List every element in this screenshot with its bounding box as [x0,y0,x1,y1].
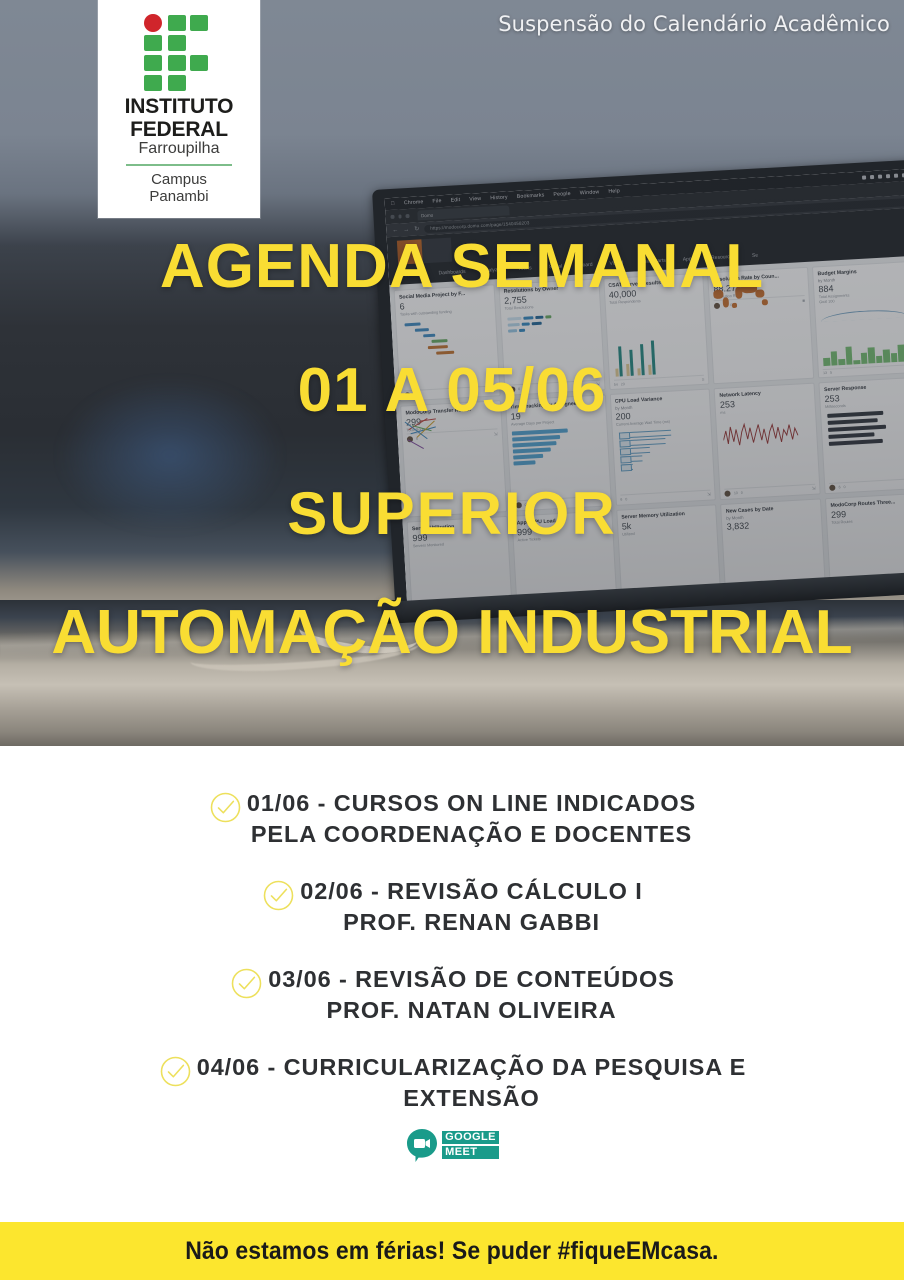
display-icon [886,174,890,178]
agenda-item-text: 04/06 - CURRICULARIZAÇÃO DA PESQUISA E E… [197,1052,747,1114]
agenda-list: 01/06 - CURSOS ON LINE INDICADOS PELA CO… [0,746,904,1216]
logo-campus-label: Campus [151,171,207,188]
battery-icon [870,175,874,179]
footer-text: Não estamos em férias! Se puder #fiqueEM… [185,1237,718,1266]
agenda-item-line1: 04/06 - CURRICULARIZAÇÃO DA PESQUISA E [197,1054,747,1080]
check-circle-icon [208,790,243,825]
meet-word-meet: MEET [442,1146,499,1159]
volume-icon [894,174,898,178]
logo-campus-name: Panambi [149,188,208,205]
agenda-item-2: 02/06 - REVISÃO CÁLCULO I PROF. RENAN GA… [0,876,904,938]
title-date-range: 01 A 05/06 [0,360,904,422]
logo-block [168,15,186,31]
title-agenda-semanal: AGENDA SEMANAL [0,236,904,298]
agenda-item-line2: EXTENSÃO [197,1083,747,1114]
logo-block [168,35,186,51]
menu-chrome[interactable]: Chrome [404,199,424,206]
logo-block [144,75,162,91]
menu-view[interactable]: View [469,196,481,203]
menu-file[interactable]: File [432,198,441,205]
if-logo-mark [136,14,222,94]
menu-people[interactable]: People [553,191,571,198]
logo-state-name: Farroupilha [139,140,220,158]
wifi-icon [862,175,866,179]
bluetooth-icon [878,175,882,179]
agenda-item-line1: 02/06 - REVISÃO CÁLCULO I [300,878,642,904]
meet-word-google: GOOGLE [442,1131,499,1144]
logo-block [144,35,162,51]
logo-block [190,55,208,71]
maximize-window-dot[interactable] [405,214,409,218]
title-course-name: AUTOMAÇÃO INDUSTRIAL [0,602,904,664]
agenda-item-line2: PROF. NATAN OLIVEIRA [268,995,675,1026]
logo-block [168,75,186,91]
hero-titles: AGENDA SEMANAL 01 A 05/06 SUPERIOR AUTOM… [0,236,904,664]
menubar-status-icons [862,173,904,179]
logo-instituto-line: INSTITUTO [125,97,234,117]
footer-banner: Não estamos em férias! Se puder #fiqueEM… [0,1222,904,1280]
agenda-item-line2: PELA COORDENAÇÃO E DOCENTES [247,819,696,850]
menu-bookmarks[interactable]: Bookmarks [517,192,545,200]
title-superior: SUPERIOR [0,484,904,544]
logo-block [144,55,162,71]
menu-edit[interactable]: Edit [450,197,460,204]
agenda-item-4: 04/06 - CURRICULARIZAÇÃO DA PESQUISA E E… [0,1052,904,1114]
logo-divider [126,164,232,166]
browser-tab-label: Domo [421,212,434,218]
logo-federal-line: FEDERAL [130,120,228,140]
poster:  Chrome File Edit View History Bookmark… [0,0,904,1280]
google-meet-badge[interactable]: GOOGLE MEET [0,1128,904,1162]
agenda-item-line2: PROF. RENAN GABBI [300,907,642,938]
agenda-item-text: 03/06 - REVISÃO DE CONTEÚDOS PROF. NATAN… [268,964,675,1026]
check-circle-icon [261,878,296,913]
check-circle-icon [229,966,264,1001]
menu-window[interactable]: Window [580,189,600,196]
agenda-item-1: 01/06 - CURSOS ON LINE INDICADOS PELA CO… [0,788,904,850]
meet-bubble-icon [405,1128,439,1162]
meet-wordmark: GOOGLE MEET [442,1131,499,1159]
check-circle-icon [158,1054,193,1089]
agenda-item-text: 02/06 - REVISÃO CÁLCULO I PROF. RENAN GA… [300,876,642,938]
google-meet-logo: GOOGLE MEET [405,1128,499,1162]
logo-dot-red [144,14,162,32]
hero-banner:  Chrome File Edit View History Bookmark… [0,0,904,746]
logo-block [168,55,186,71]
agenda-item-3: 03/06 - REVISÃO DE CONTEÚDOS PROF. NATAN… [0,964,904,1026]
agenda-item-line1: 01/06 - CURSOS ON LINE INDICADOS [247,790,696,816]
agenda-item-text: 01/06 - CURSOS ON LINE INDICADOS PELA CO… [247,788,696,850]
close-window-dot[interactable] [390,215,394,219]
menu-history[interactable]: History [490,194,508,201]
agenda-item-line1: 03/06 - REVISÃO DE CONTEÚDOS [268,966,675,992]
minimize-window-dot[interactable] [398,215,402,219]
menu-help[interactable]: Help [608,188,620,195]
apple-icon:  [391,201,395,207]
logo-block [190,15,208,31]
header-notice: Suspensão do Calendário Acadêmico [498,12,890,36]
institution-logo: INSTITUTO FEDERAL Farroupilha Campus Pan… [98,0,260,218]
video-camera-icon [405,1128,439,1162]
